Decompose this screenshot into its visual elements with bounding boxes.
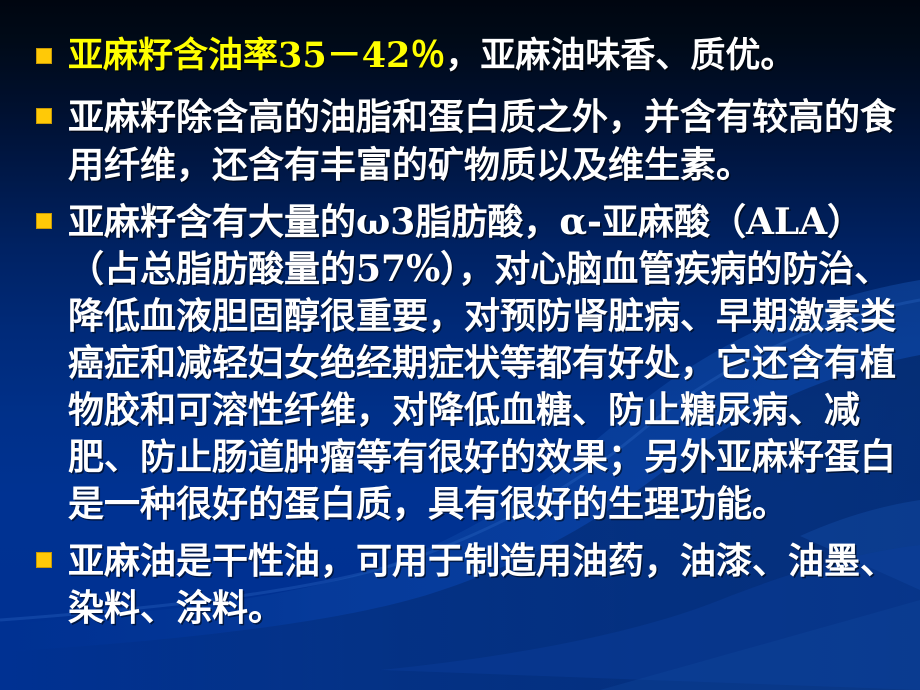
bullet-item-4: 亚麻油是干性油，可用于制造用油药，油漆、油墨、染料、涂料。 — [0, 538, 920, 632]
bullet-item-2: 亚麻籽除含高的油脂和蛋白质之外，并含有较高的食用纤维，还含有丰富的矿物质以及维生… — [0, 93, 920, 189]
bullet-item-3: 亚麻籽含有大量的ω3脂肪酸，α-亚麻酸（ALA）（占总脂肪酸量的57%），对心脑… — [0, 199, 920, 528]
square-bullet-icon — [36, 552, 52, 568]
square-bullet-icon — [36, 213, 52, 229]
bullet-text-3: 亚麻籽含有大量的ω3脂肪酸，α-亚麻酸（ALA）（占总脂肪酸量的57%），对心脑… — [68, 199, 920, 528]
presentation-slide: 亚麻籽含油率35－42％，亚麻油味香、质优。 亚麻籽除含高的油脂和蛋白质之外，并… — [0, 0, 920, 690]
bullet-text-1: 亚麻籽含油率35－42％，亚麻油味香、质优。 — [68, 34, 920, 78]
slide-body: 亚麻籽含油率35－42％，亚麻油味香、质优。 亚麻籽除含高的油脂和蛋白质之外，并… — [0, 34, 920, 632]
square-bullet-icon — [36, 108, 52, 124]
bullet-text-2: 亚麻籽除含高的油脂和蛋白质之外，并含有较高的食用纤维，还含有丰富的矿物质以及维生… — [68, 93, 920, 189]
bullet-1-highlight: 亚麻籽含油率35－42％ — [68, 35, 445, 76]
bullet-text-4: 亚麻油是干性油，可用于制造用油药，油漆、油墨、染料、涂料。 — [68, 538, 920, 632]
bullet-1-rest: ，亚麻油味香、质优。 — [445, 35, 795, 76]
square-bullet-icon — [36, 48, 52, 64]
bullet-item-1: 亚麻籽含油率35－42％，亚麻油味香、质优。 — [0, 34, 920, 78]
